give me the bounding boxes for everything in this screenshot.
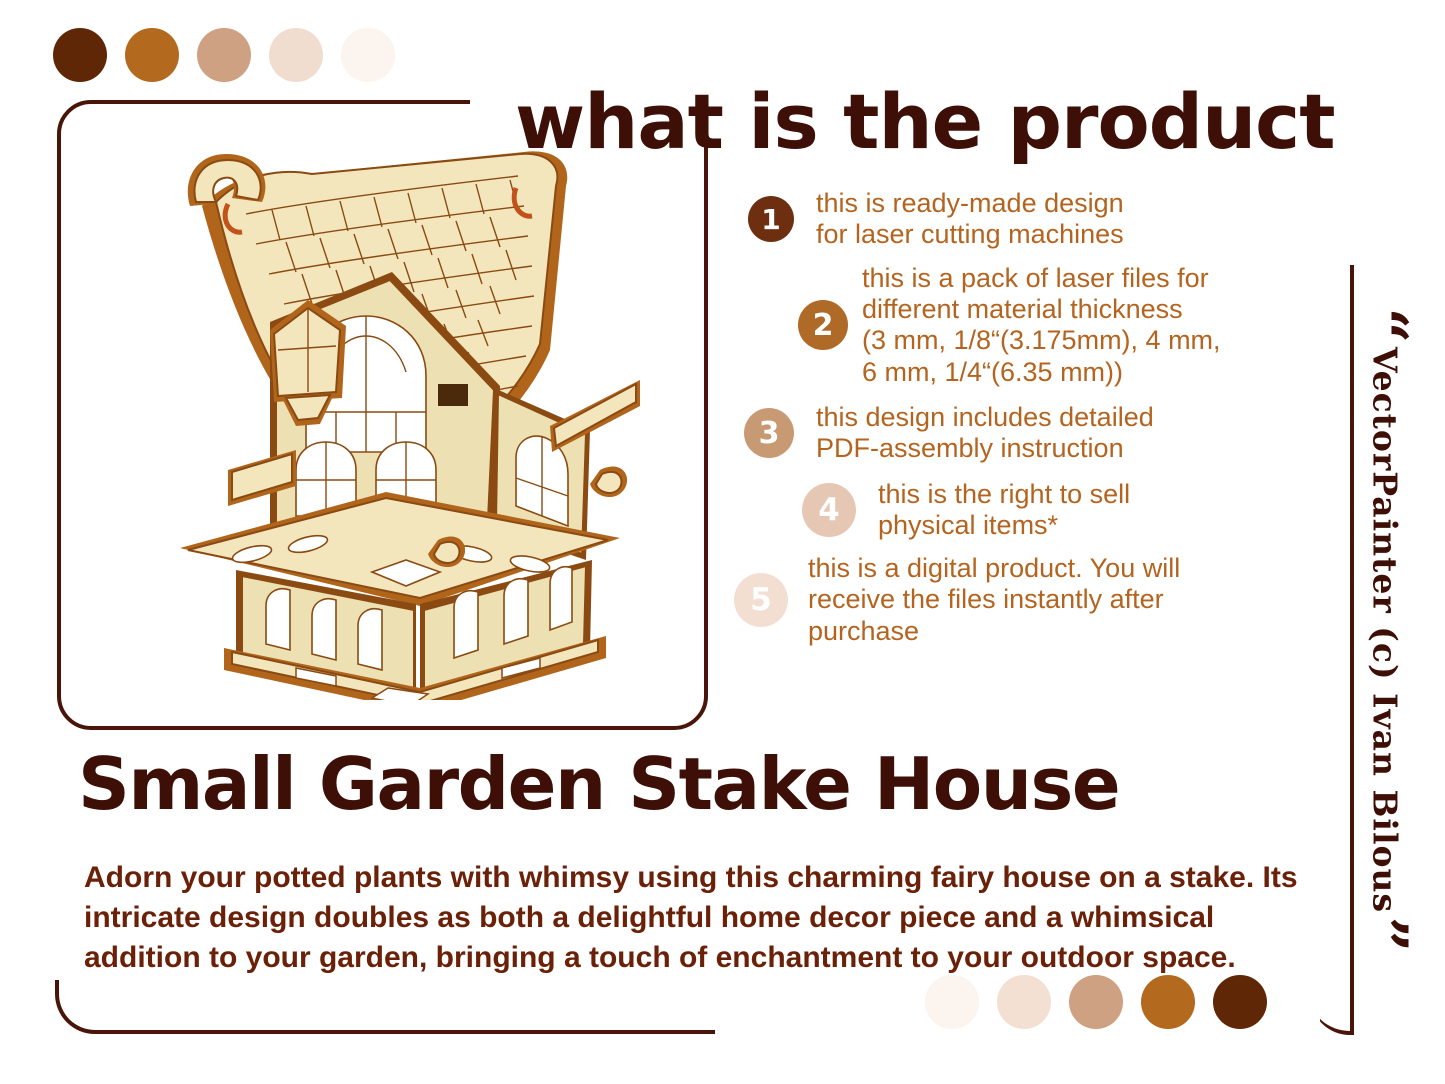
feature-number-badge: 3 xyxy=(744,408,794,458)
feature-item: 5this is a digital product. You willrece… xyxy=(734,553,1336,647)
feature-number-badge: 2 xyxy=(798,300,848,350)
credit-watermark: “ VectorPainter (c) Ivan Bilous ” xyxy=(1355,310,1415,950)
color-swatch xyxy=(1069,975,1123,1029)
feature-text: this is a pack of laser files fordiffere… xyxy=(862,263,1221,388)
outer-frame-bottom-left xyxy=(55,900,715,1034)
feature-text: this is the right to sellphysical items* xyxy=(878,479,1130,542)
page-headline: what is the product xyxy=(515,84,1335,160)
close-quote-icon: ” xyxy=(1369,917,1400,953)
feature-item: 4this is the right to sellphysical items… xyxy=(802,479,1336,542)
feature-item: 3this design includes detailedPDF-assemb… xyxy=(744,402,1336,465)
feature-number-badge: 4 xyxy=(802,483,856,537)
color-swatch xyxy=(341,28,395,82)
feature-number-badge: 5 xyxy=(734,573,788,627)
outer-frame-mask xyxy=(40,900,70,980)
color-swatch xyxy=(1213,975,1267,1029)
color-swatch xyxy=(1141,975,1195,1029)
color-swatch xyxy=(197,28,251,82)
palette-bottom xyxy=(925,975,1267,1029)
color-swatch xyxy=(125,28,179,82)
feature-text: this design includes detailedPDF-assembl… xyxy=(816,402,1154,465)
right-rule-mask xyxy=(1300,960,1320,1040)
credit-text: VectorPainter (c) Ivan Bilous xyxy=(1366,347,1405,913)
color-swatch xyxy=(997,975,1051,1029)
infographic-page: .w { fill:#f3e6bd; stroke:#8a4a12; strok… xyxy=(0,0,1445,1084)
feature-text: this is a digital product. You willrecei… xyxy=(808,553,1180,647)
product-illustration: .w { fill:#f3e6bd; stroke:#8a4a12; strok… xyxy=(120,140,650,700)
feature-list: 1this is ready-made designfor laser cutt… xyxy=(726,188,1336,653)
color-swatch xyxy=(53,28,107,82)
color-swatch xyxy=(925,975,979,1029)
open-quote-icon: “ xyxy=(1369,308,1400,344)
feature-number-badge: 1 xyxy=(748,196,794,242)
feature-item: 1this is ready-made designfor laser cutt… xyxy=(748,188,1336,251)
palette-top xyxy=(53,28,395,82)
feature-item: 2this is a pack of laser files fordiffer… xyxy=(798,263,1336,388)
product-title: Small Garden Stake House xyxy=(78,748,1119,820)
color-swatch xyxy=(269,28,323,82)
feature-text: this is ready-made designfor laser cutti… xyxy=(816,188,1124,251)
